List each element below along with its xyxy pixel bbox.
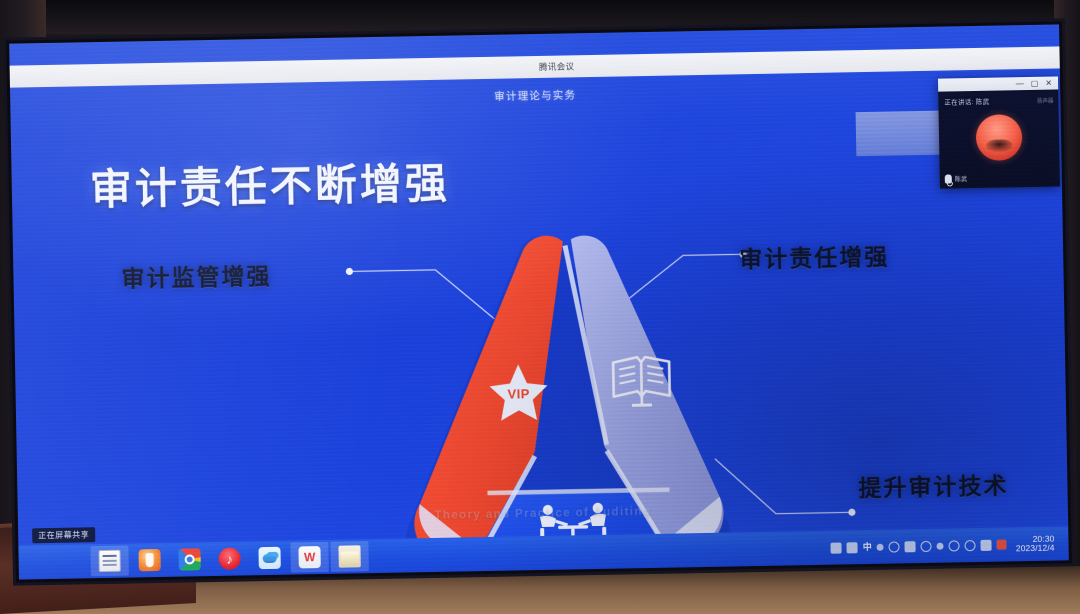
ime-indicator[interactable]: 中	[863, 541, 872, 552]
maximize-icon[interactable]: ▢	[1031, 79, 1039, 87]
page-title: 审计责任不断增强	[89, 150, 450, 218]
mic-status[interactable]: 陈武	[945, 174, 968, 183]
screen-share-banner: 正在屏幕共享	[32, 527, 95, 543]
taskbar-item-baidu-netdisk[interactable]	[250, 543, 289, 574]
tray-browser-icon[interactable]	[965, 540, 976, 551]
tray-alert-icon[interactable]	[997, 539, 1007, 549]
video-conference-panel[interactable]: — ▢ ✕ 正在讲话: 陈武 扬声器 陈武	[938, 76, 1060, 188]
notes-icon	[98, 550, 120, 572]
taskbar-clock[interactable]: 20:30 2023/12/4	[1016, 534, 1055, 553]
speaker-badge: 扬声器	[1037, 97, 1054, 105]
projection-screen: 腾讯会议 审计理论与实务 审计责任不断增强	[3, 18, 1075, 585]
taskbar-item-wps-office[interactable]	[290, 542, 329, 573]
video-feed: 正在讲话: 陈武 扬声器 陈武	[938, 89, 1060, 188]
clock-date: 2023/12/4	[1016, 544, 1055, 554]
system-tray[interactable]: 中 20:30 2023/12/4	[831, 534, 1069, 557]
music-icon	[218, 548, 240, 570]
folder-icon	[338, 545, 360, 567]
mic-participant-name: 陈武	[955, 174, 968, 183]
taskbar-item-browser-360[interactable]	[130, 545, 169, 576]
minimize-icon[interactable]: —	[1016, 80, 1024, 88]
taskbar-item-netease-music[interactable]	[210, 543, 249, 574]
cloud-icon	[258, 547, 280, 569]
participant-avatar	[976, 114, 1023, 161]
wps-icon	[298, 546, 320, 568]
tray-dot-icon[interactable]	[877, 543, 884, 550]
microphone-icon[interactable]	[945, 174, 952, 183]
speaking-label: 正在讲话: 陈武	[944, 96, 989, 107]
tray-refresh-icon[interactable]	[949, 540, 960, 551]
triangle-infographic: VIP	[364, 212, 771, 546]
taskbar-item-chrome-browser[interactable]	[170, 544, 209, 575]
tray-cloud-icon[interactable]	[889, 541, 900, 552]
360-icon	[138, 549, 160, 571]
close-icon[interactable]: ✕	[1045, 79, 1052, 87]
tray-bluetooth-icon[interactable]	[937, 542, 944, 549]
screen-bezel: 腾讯会议 审计理论与实务 审计责任不断增强	[3, 18, 1075, 585]
tray-printer-icon[interactable]	[905, 541, 916, 552]
volume-icon[interactable]	[981, 539, 992, 550]
photo-scene: 腾讯会议 审计理论与实务 审计责任不断增强	[0, 0, 1080, 614]
taskbar-app-list	[18, 541, 368, 577]
callout-label-left: 审计监管增强	[121, 257, 272, 294]
tray-network-icon[interactable]	[847, 542, 858, 553]
screen-surface: 腾讯会议 审计理论与实务 审计责任不断增强	[9, 24, 1069, 579]
svg-text:VIP: VIP	[507, 386, 529, 401]
callout-label-bottom: 提升审计技术	[858, 466, 1009, 503]
tray-app-icon[interactable]	[831, 542, 842, 553]
taskbar-item-file-explorer[interactable]	[330, 541, 369, 572]
chrome-icon	[178, 548, 200, 570]
tray-sync-icon[interactable]	[921, 540, 932, 551]
taskbar-item-notes-app[interactable]	[90, 546, 129, 577]
app-title: 腾讯会议	[539, 60, 575, 73]
